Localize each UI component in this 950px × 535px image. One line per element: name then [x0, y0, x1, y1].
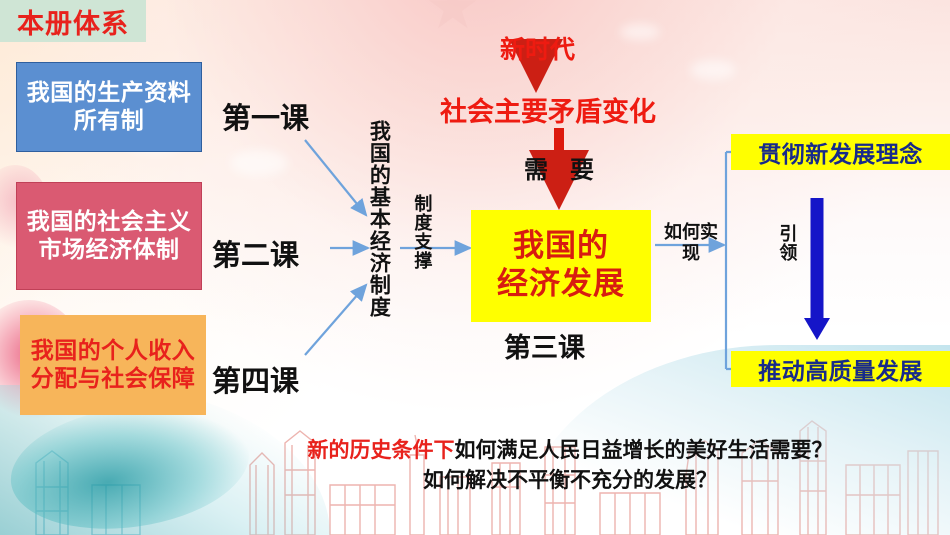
label-lesson-four: 第四课 [212, 358, 299, 400]
box-socialist-market-economy-system[interactable]: 我国的社会主义市场经济体制 [16, 182, 202, 290]
bottom-question-highlight: 新的历史条件下 [308, 438, 455, 462]
box-economic-development[interactable]: 我国的 经济发展 [471, 210, 651, 322]
label-lesson-two: 第二课 [212, 232, 299, 274]
section-title: 本册体系 [0, 0, 146, 42]
label-institutional-support: 制度支撑 [412, 194, 430, 270]
label-main-contradiction: 社会主要矛盾变化 [440, 90, 656, 129]
label-need-first-char: 需 [524, 150, 548, 185]
label-lesson-three: 第三课 [504, 326, 585, 365]
light-blob [690, 60, 736, 80]
label-new-era: 新时代 [500, 30, 575, 66]
slide-canvas: 本册体系 我国的生产资料所有制 我国的社会主义市场经济体制 我国的个人收入分配与… [0, 0, 950, 535]
box-label: 贯彻新发展理念 [758, 135, 923, 169]
box-label: 我国的社会主义市场经济体制 [17, 208, 201, 264]
light-blob [230, 150, 288, 176]
section-title-text: 本册体系 [17, 2, 129, 41]
box-implement-new-development-concept[interactable]: 贯彻新发展理念 [731, 134, 950, 170]
box-label: 我国的个人收入分配与社会保障 [20, 337, 206, 393]
light-blob [620, 24, 660, 40]
label-basic-economic-system: 我国的基本经济制度 [368, 120, 389, 318]
box-promote-high-quality-development[interactable]: 推动高质量发展 [731, 351, 950, 387]
label-leading: 引领 [777, 224, 795, 262]
box-production-materials-ownership[interactable]: 我国的生产资料所有制 [16, 62, 202, 152]
box-label-line1: 我国的 [513, 228, 609, 266]
label-need-second-char: 要 [570, 150, 594, 185]
box-label-line2: 经济发展 [497, 266, 625, 304]
label-lesson-one: 第一课 [222, 95, 309, 137]
bottom-question-rest: 如何满足人民日益增长的美好生活需要？如何解决不平衡不充分的发展？ [423, 438, 833, 492]
label-how-to-realize: 如何实现 [661, 222, 721, 264]
box-label: 推动高质量发展 [758, 352, 923, 386]
box-personal-income-and-social-security[interactable]: 我国的个人收入分配与社会保障 [20, 315, 206, 415]
bottom-question: 新的历史条件下如何满足人民日益增长的美好生活需要？如何解决不平衡不充分的发展？ [300, 436, 840, 496]
box-label: 我国的生产资料所有制 [17, 79, 201, 135]
